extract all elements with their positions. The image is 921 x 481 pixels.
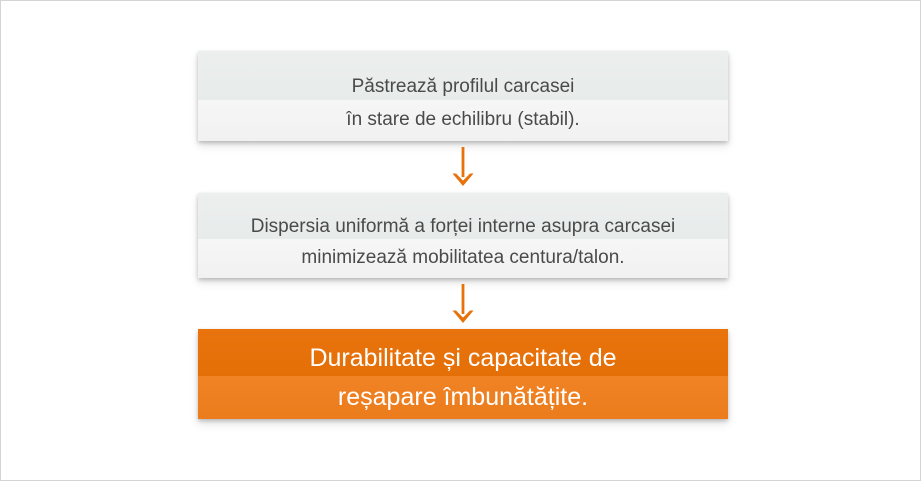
arrow-down-icon [450,284,476,324]
flow-node-2: Dispersia uniformă a forței interne asup… [198,193,728,278]
flow-node-3-band-top: Durabilitate și capacitate de [198,329,728,376]
flow-node-3: Durabilitate și capacitate de reșapare î… [198,329,728,419]
flow-node-1-line-1: Păstrează profilul carcasei [198,75,728,99]
flow-node-2-line-2: minimizează mobilitatea centura/talon. [198,246,728,270]
connector-1 [198,141,728,193]
flow-node-2-band-bottom: minimizează mobilitatea centura/talon. [198,239,728,278]
arrow-down-icon [450,147,476,187]
flow-node-3-line-1: Durabilitate și capacitate de [198,342,728,374]
flow-node-2-band-top: Dispersia uniformă a forței interne asup… [198,193,728,239]
connector-2 [198,278,728,329]
flow-node-1-band-bottom: în stare de echilibru (stabil). [198,100,728,141]
flow-node-1-band-top: Păstrează profilul carcasei [198,51,728,100]
flow-node-3-line-2: reșapare îmbunătățite. [198,381,728,413]
flow-node-3-band-bottom: reșapare îmbunătățite. [198,376,728,419]
flow-node-2-line-1: Dispersia uniformă a forței interne asup… [198,215,728,239]
flow-node-1-line-2: în stare de echilibru (stabil). [198,108,728,132]
diagram-canvas: Păstrează profilul carcasei în stare de … [0,0,921,481]
flow-node-1: Păstrează profilul carcasei în stare de … [198,51,728,141]
flowchart: Păstrează profilul carcasei în stare de … [198,51,728,419]
